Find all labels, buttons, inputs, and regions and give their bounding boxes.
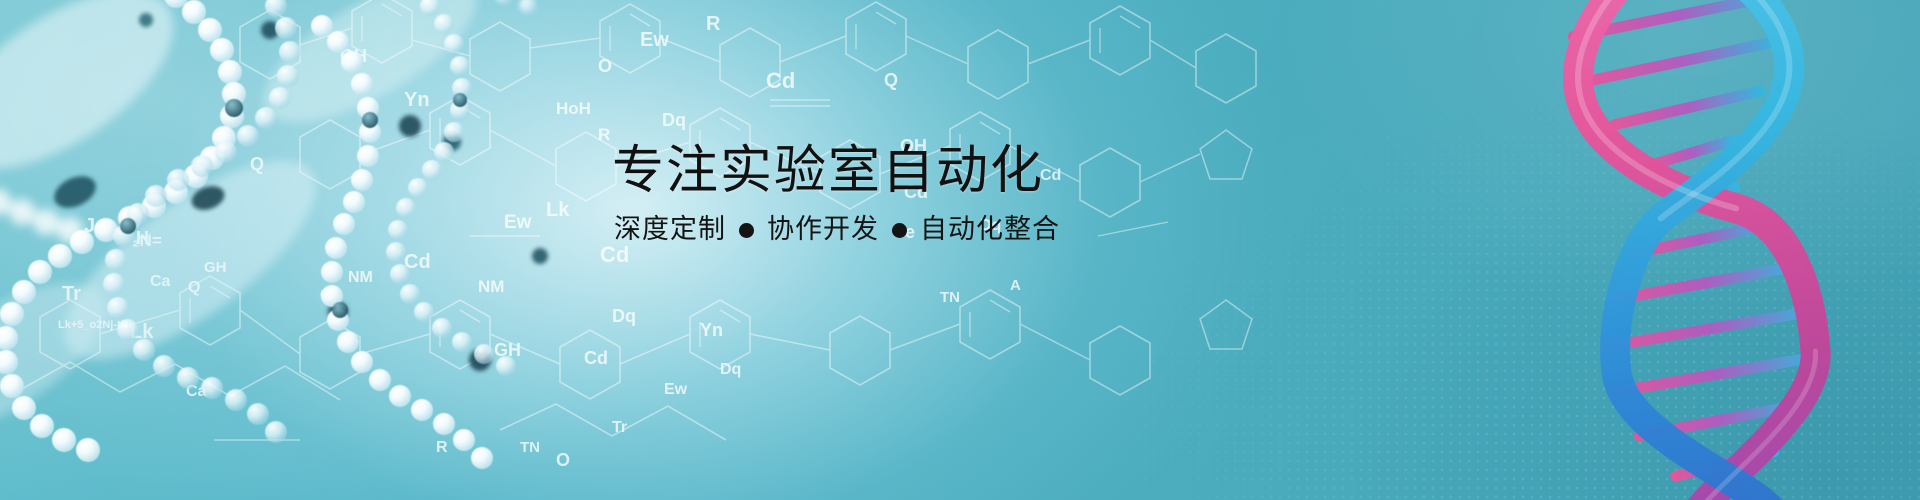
banner-subtitle: 深度定制 协作开发 自动化整合 xyxy=(614,213,1312,245)
hero-banner: Yn Ew Cd HoH Dq R Lk Ew Cd Cd Jo H ₂N= G… xyxy=(0,0,1920,500)
svg-text:Cd: Cd xyxy=(766,68,795,93)
colorful-dna-double-helix xyxy=(1452,0,1920,500)
bullet-dot-icon xyxy=(739,223,754,238)
page-title: 专注实验室自动化 xyxy=(612,143,1312,199)
svg-text:A: A xyxy=(1010,277,1021,294)
svg-text:Q: Q xyxy=(884,70,898,90)
banner-copy: 专注实验室自动化 深度定制 协作开发 自动化整合 xyxy=(612,143,1312,246)
subtitle-segment-3: 自动化整合 xyxy=(920,213,1060,245)
svg-text:TN: TN xyxy=(940,289,960,306)
bullet-dot-icon xyxy=(892,223,907,238)
subtitle-segment-2: 协作开发 xyxy=(767,213,879,245)
subtitle-segment-1: 深度定制 xyxy=(614,213,726,245)
pearl-dna-double-helix xyxy=(0,0,760,500)
